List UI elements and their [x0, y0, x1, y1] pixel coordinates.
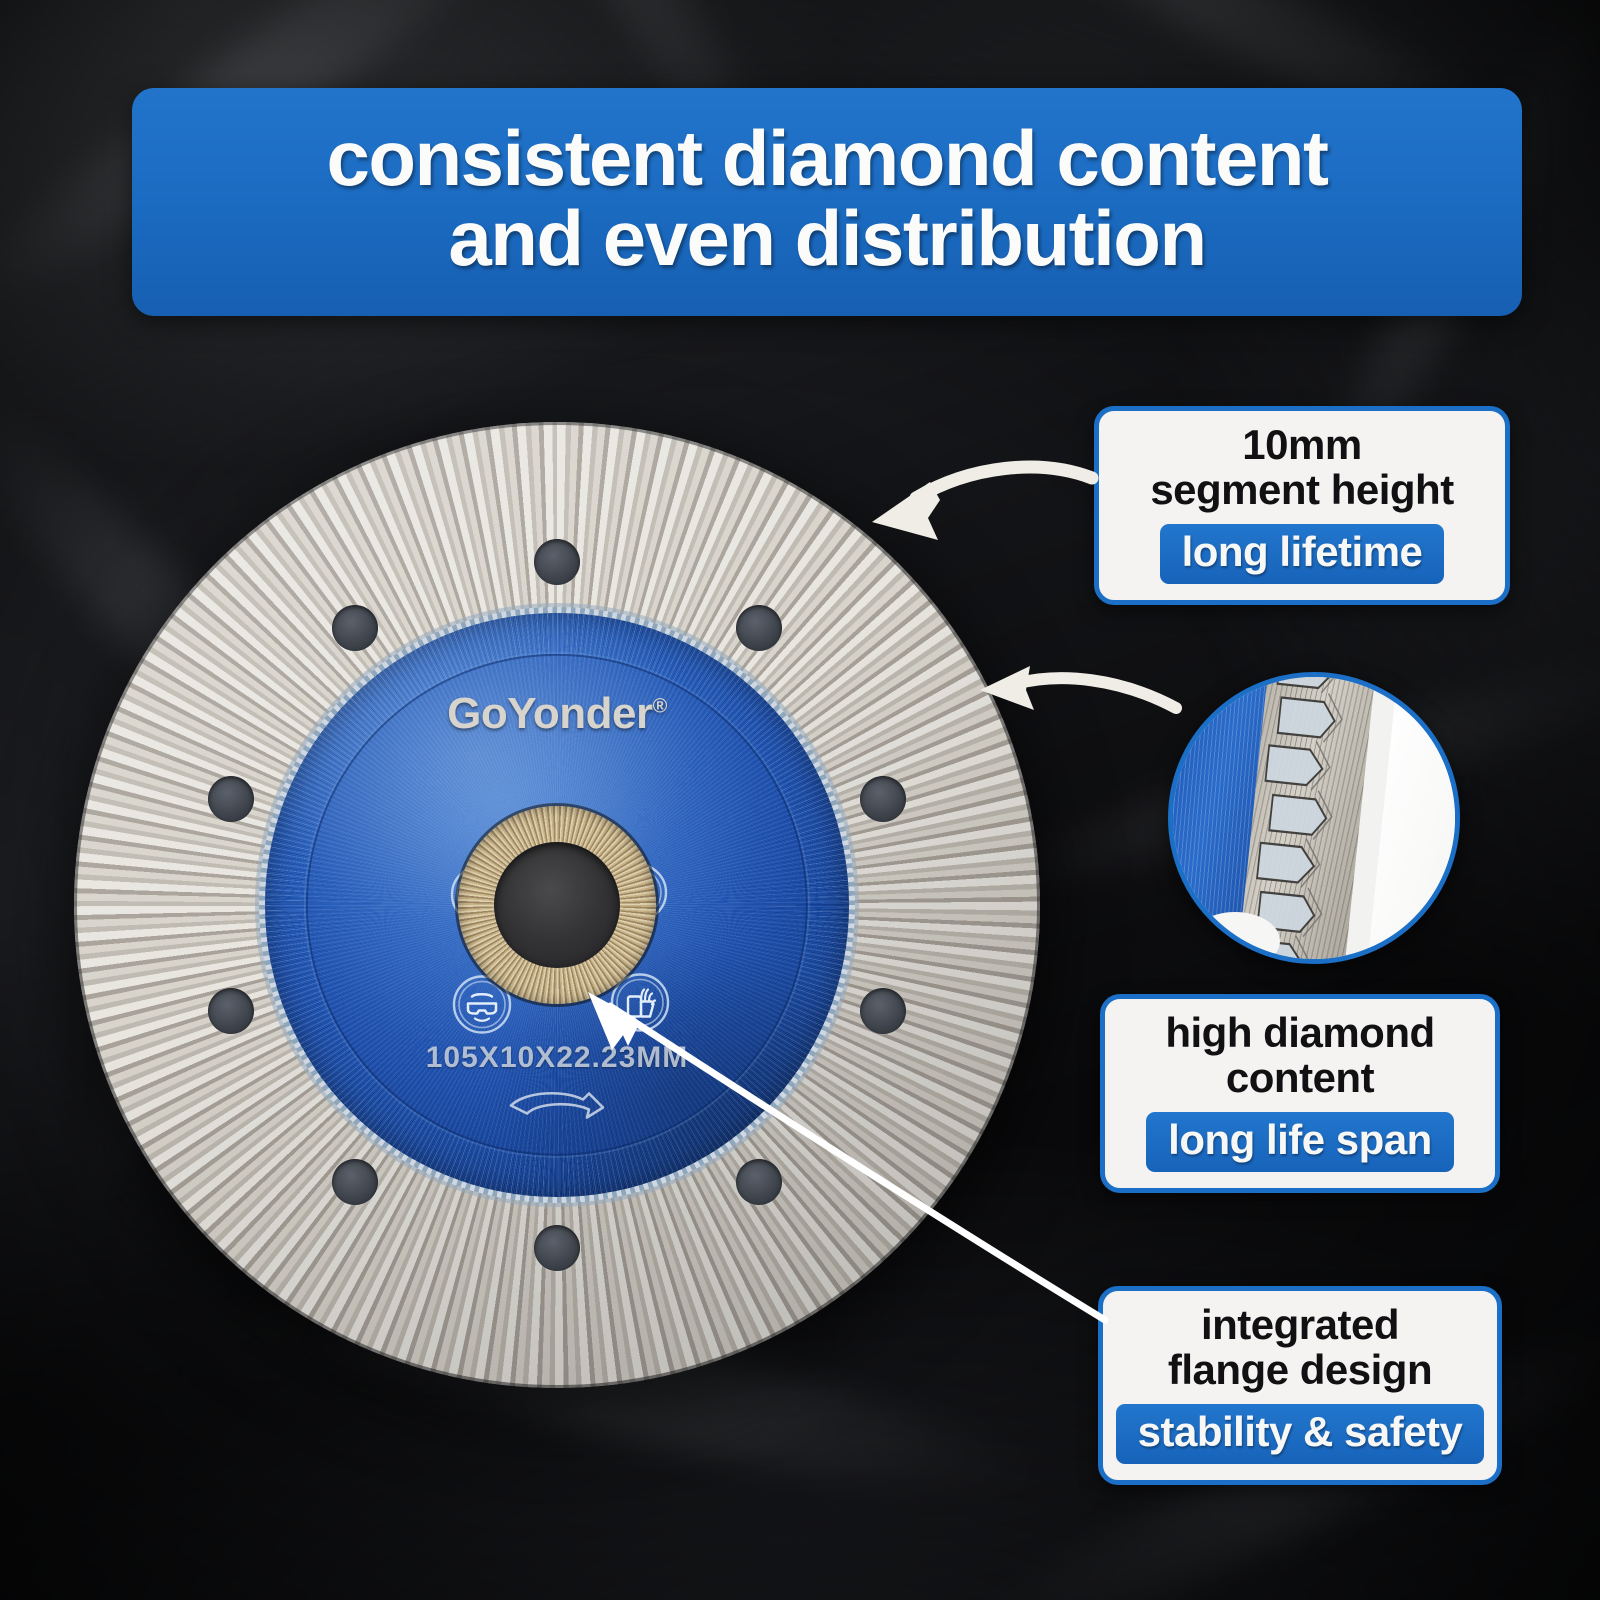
inset-notch	[1190, 912, 1280, 964]
diamond-saw-blade: GoYonder® 105X10X22.23MM	[74, 422, 1040, 1388]
callout-diamond-content[interactable]: high diamond content long life span	[1100, 994, 1500, 1193]
inset-side-face	[1363, 672, 1460, 964]
headline-line-1: consistent diamond content	[326, 118, 1327, 198]
product-photo: GoYonder® 105X10X22.23MM	[58, 406, 1068, 1456]
callout-title-line-1: integrated	[1201, 1303, 1399, 1348]
callout-title-line-2: content	[1226, 1056, 1374, 1101]
headline-line-2: and even distribution	[448, 198, 1205, 278]
callout-title-line-2: segment height	[1150, 468, 1453, 513]
callout-badge: long lifetime	[1160, 524, 1445, 584]
callout-title-line-2: flange design	[1168, 1348, 1432, 1393]
headline-banner: consistent diamond content and even dist…	[132, 88, 1522, 316]
callout-title-line-1: high diamond	[1165, 1011, 1434, 1056]
segment-magnifier-inset	[1168, 672, 1460, 964]
brand-name: GoYonder	[447, 689, 652, 738]
rotation-direction-icon	[497, 1080, 617, 1125]
callout-badge: long life span	[1146, 1112, 1454, 1172]
size-specification: 105X10X22.23MM	[426, 1041, 689, 1075]
callout-title-line-1: 10mm	[1242, 423, 1361, 468]
callout-segment-height[interactable]: 10mm segment height long lifetime	[1094, 406, 1510, 605]
registered-mark: ®	[653, 695, 667, 717]
brand-logo: GoYonder®	[447, 689, 667, 739]
callout-badge: stability & safety	[1116, 1404, 1485, 1464]
arbor-hole-flange	[458, 806, 656, 1004]
callout-flange-design[interactable]: integrated flange design stability & saf…	[1098, 1286, 1502, 1485]
